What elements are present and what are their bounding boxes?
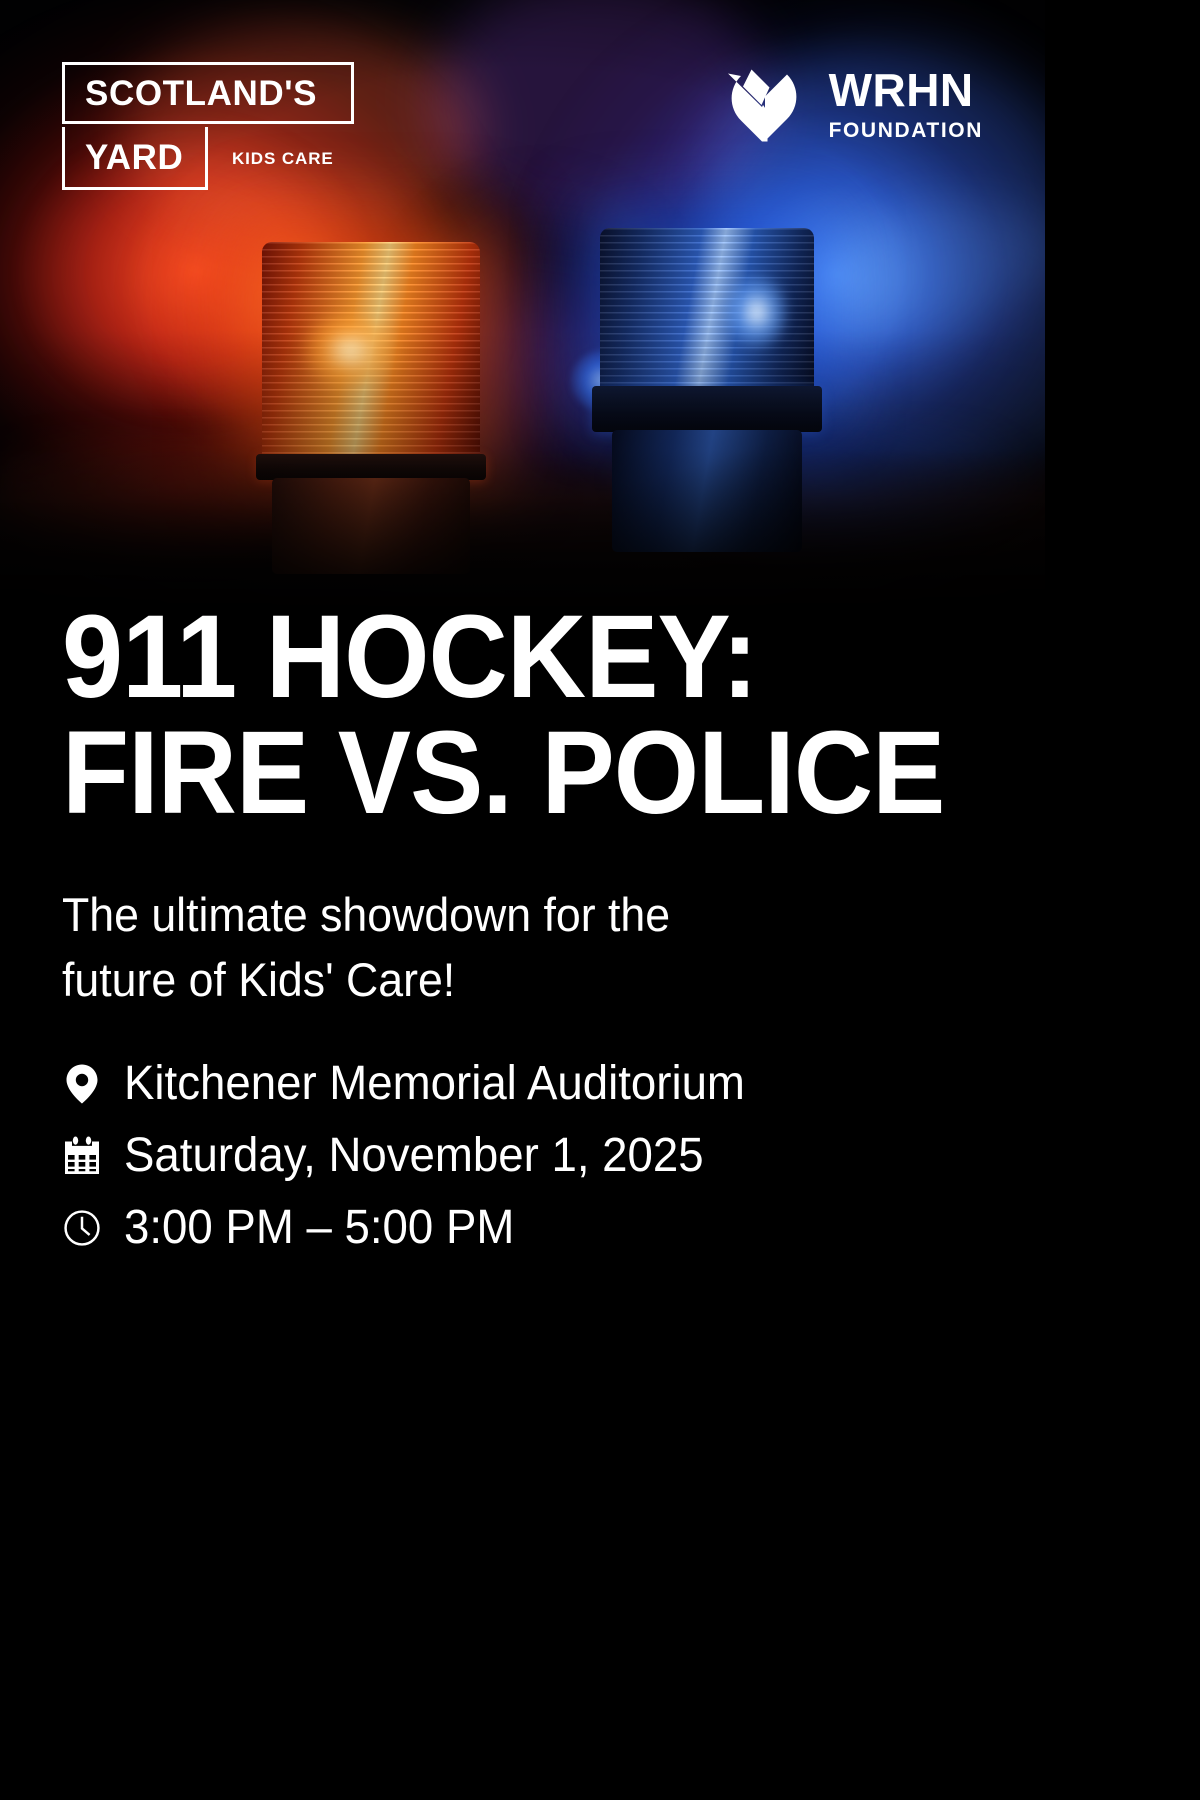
photo-bottom-fade bbox=[0, 330, 1045, 620]
logo-tagline: KIDS CARE bbox=[232, 150, 334, 167]
detail-row-date: Saturday, November 1, 2025 bbox=[62, 1125, 992, 1187]
poster-content: 911 HOCKEY: FIRE VS. POLICE The ultimate… bbox=[62, 600, 992, 1269]
scotlands-yard-logo[interactable]: SCOTLAND'S YARD KIDS CARE bbox=[62, 62, 354, 190]
logo-line-1: SCOTLAND'S bbox=[85, 76, 317, 111]
logo-box-bottom-right: KIDS CARE bbox=[214, 127, 354, 190]
wrhn-subtitle: FOUNDATION bbox=[829, 120, 983, 141]
title-line-1: 911 HOCKEY: bbox=[62, 600, 927, 716]
event-poster: SCOTLAND'S YARD KIDS CARE WRHN FOUNDATIO… bbox=[0, 0, 1045, 1800]
detail-row-time: 3:00 PM – 5:00 PM bbox=[62, 1197, 992, 1259]
clock-icon bbox=[62, 1206, 102, 1250]
tagline: The ultimate showdown for the future of … bbox=[62, 883, 784, 1013]
calendar-icon bbox=[62, 1134, 102, 1178]
wrhn-wordmark: WRHN FOUNDATION bbox=[829, 67, 983, 141]
event-details: Kitchener Memorial Auditorium Saturday, … bbox=[62, 1053, 992, 1259]
detail-row-location: Kitchener Memorial Auditorium bbox=[62, 1053, 992, 1115]
wrhn-name: WRHN bbox=[829, 67, 983, 113]
wrhn-foundation-logo[interactable]: WRHN FOUNDATION bbox=[721, 58, 983, 150]
logo-box-top: SCOTLAND'S bbox=[62, 62, 354, 124]
logo-line-2: YARD bbox=[85, 140, 183, 175]
title-line-2: FIRE VS. POLICE bbox=[62, 716, 927, 832]
location-label: Kitchener Memorial Auditorium bbox=[124, 1060, 745, 1108]
time-label: 3:00 PM – 5:00 PM bbox=[124, 1204, 514, 1252]
date-label: Saturday, November 1, 2025 bbox=[124, 1132, 704, 1180]
map-pin-icon bbox=[62, 1062, 102, 1106]
page-title: 911 HOCKEY: FIRE VS. POLICE bbox=[62, 600, 927, 831]
logo-box-bottom-left: YARD bbox=[62, 127, 208, 190]
heart-leaf-icon bbox=[721, 63, 807, 145]
